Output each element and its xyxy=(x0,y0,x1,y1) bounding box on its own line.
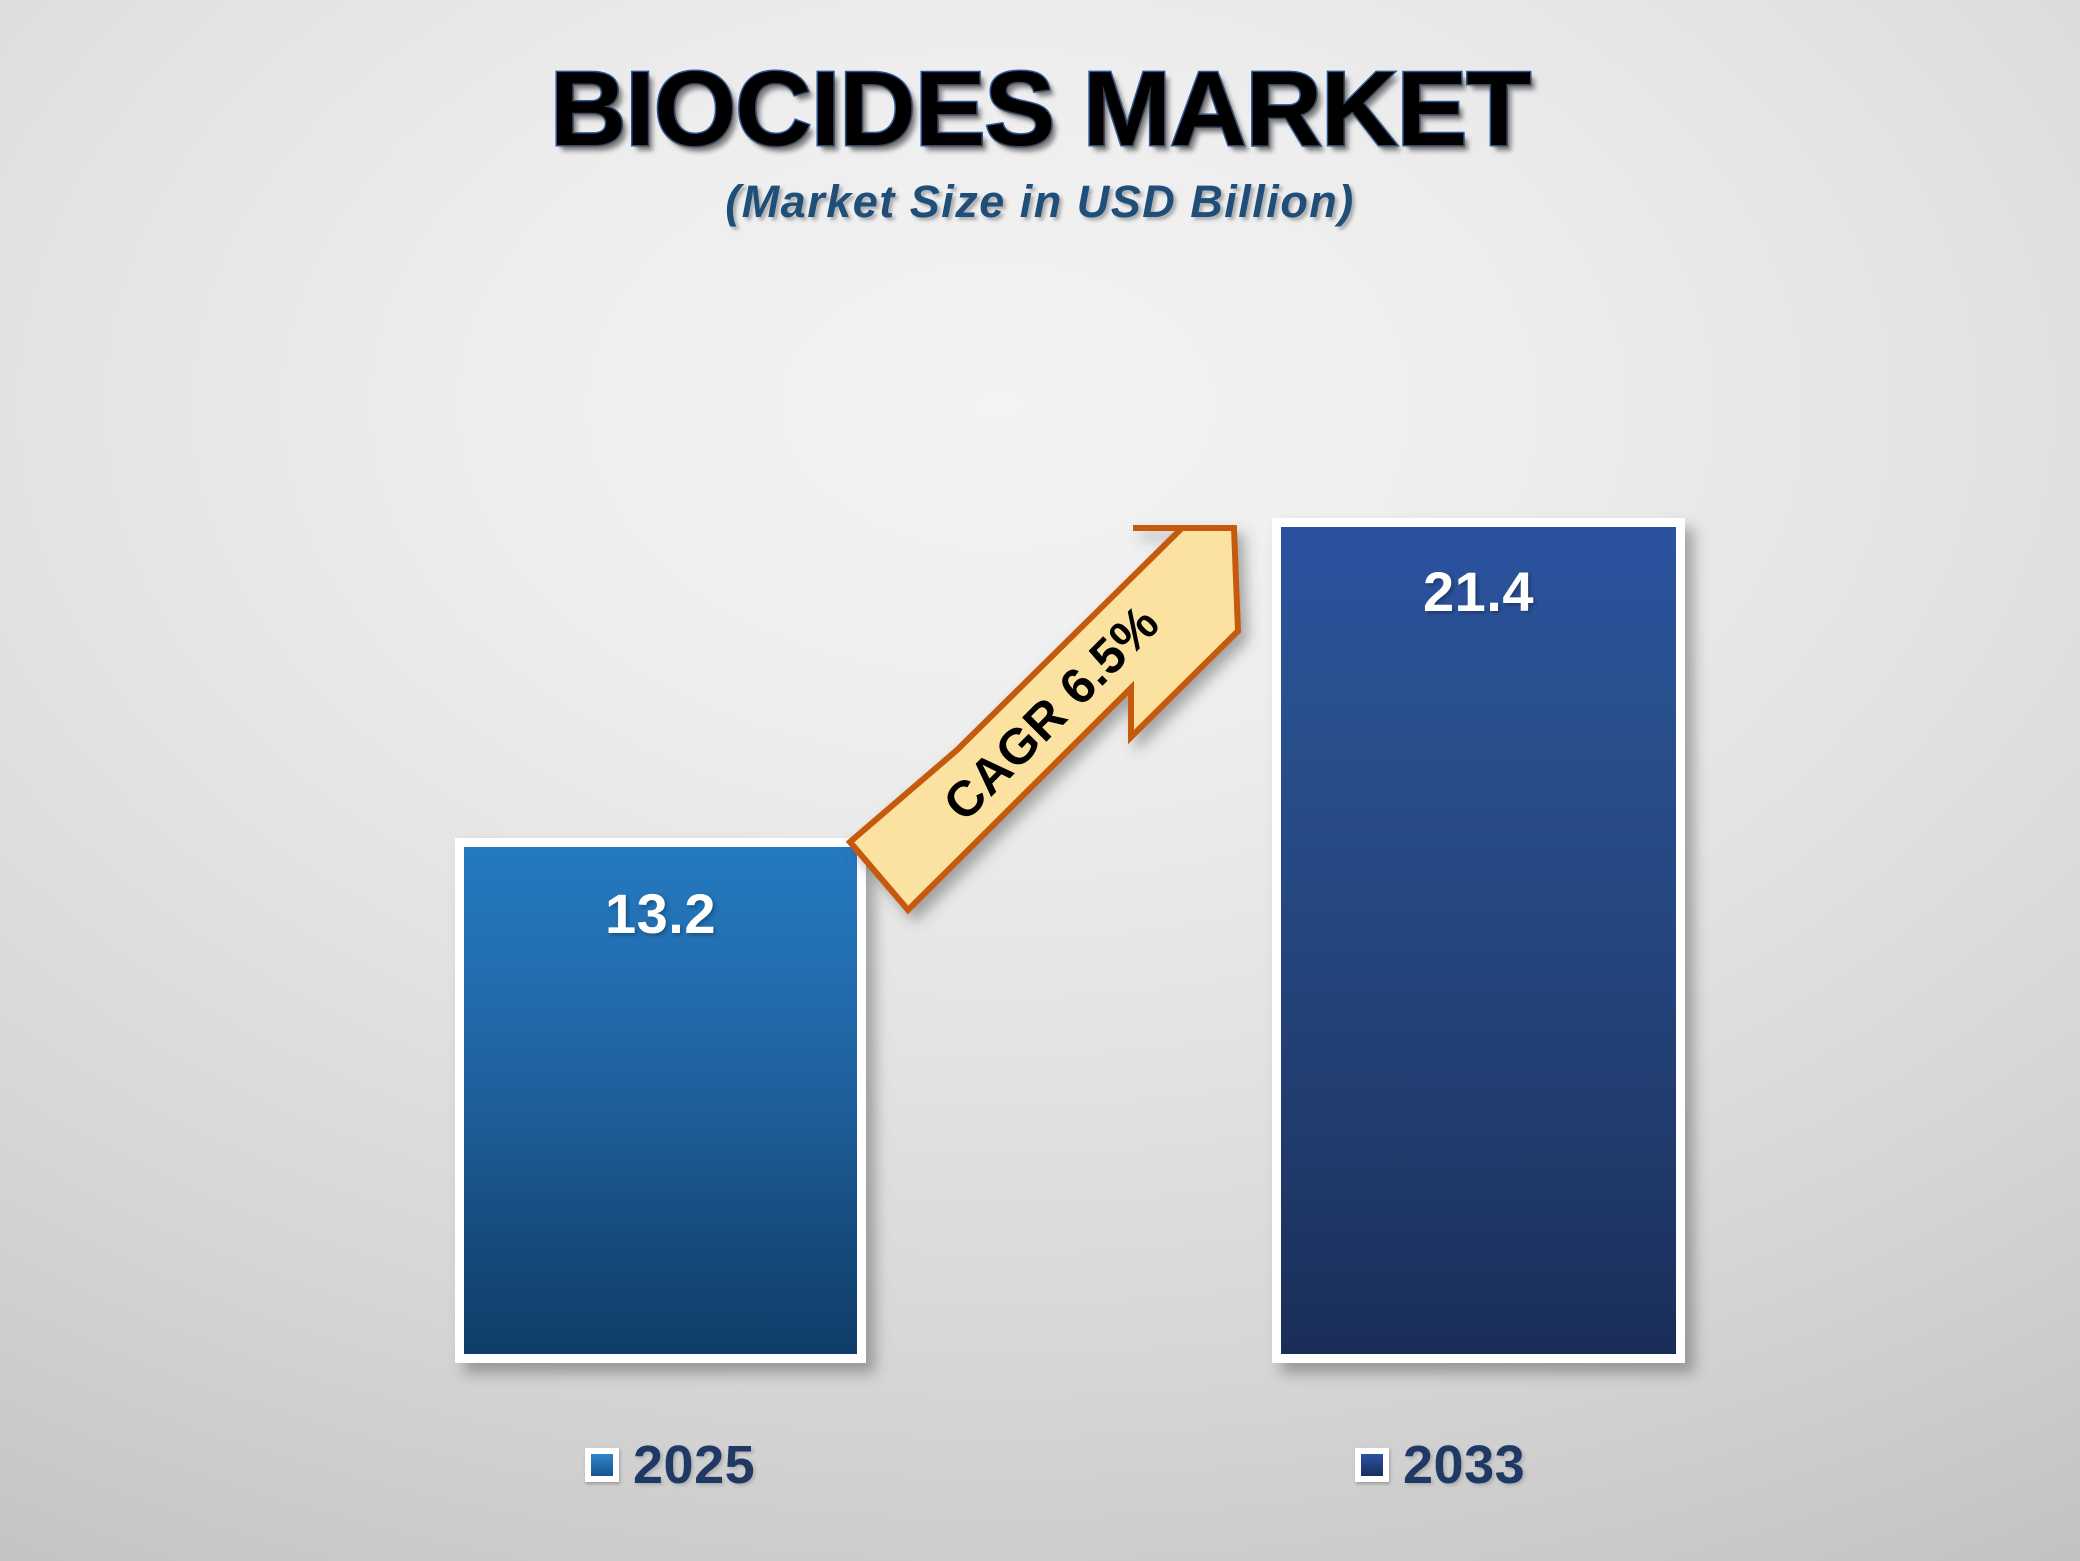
cagr-growth-arrow: CAGR 6.5% xyxy=(848,508,1252,932)
bar-2025[interactable]: 13.2 xyxy=(455,838,866,1363)
bar-2033[interactable]: 21.4 xyxy=(1272,518,1685,1363)
bar-value-label-2033: 21.4 xyxy=(1281,559,1676,624)
legend-item-2025[interactable]: 2025 xyxy=(585,1438,755,1492)
chart-canvas: BIOCIDES MARKET (Market Size in USD Bill… xyxy=(0,0,2080,1561)
bar-value-label-2025: 13.2 xyxy=(464,881,857,946)
legend-item-2033[interactable]: 2033 xyxy=(1355,1438,1525,1492)
legend-swatch-icon-2025 xyxy=(585,1448,619,1482)
legend: 2025 2033 xyxy=(0,1438,2080,1528)
legend-label-2033: 2033 xyxy=(1403,1438,1525,1492)
plot-area: 13.2 21.4 CAGR 6.5% xyxy=(0,0,2080,1561)
growth-arrow-shape xyxy=(850,528,1238,910)
growth-arrow-icon xyxy=(848,508,1252,932)
legend-label-2025: 2025 xyxy=(633,1438,755,1492)
legend-swatch-icon-2033 xyxy=(1355,1448,1389,1482)
